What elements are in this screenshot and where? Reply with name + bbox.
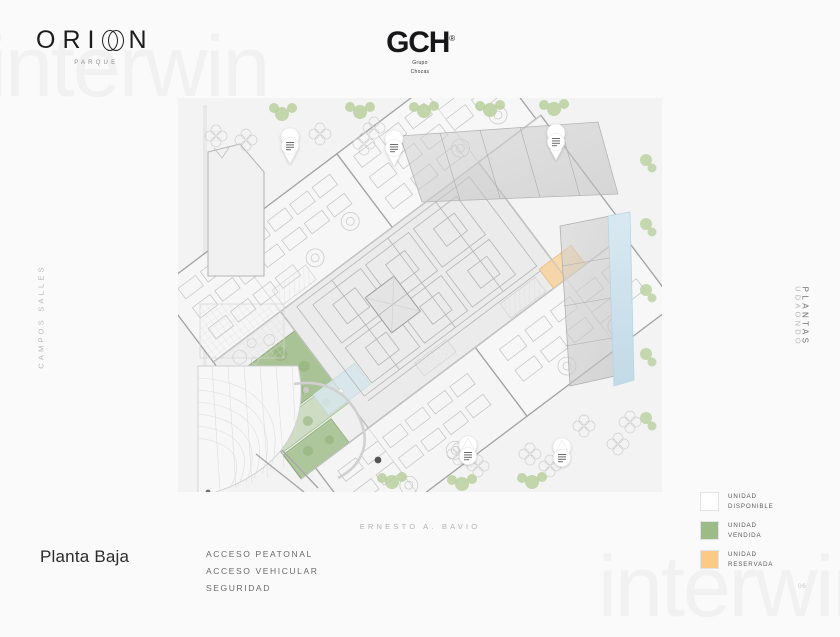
legend-label-reservada: UNIDAD RESERVADA	[728, 550, 773, 569]
page-title: Planta Baja	[40, 547, 129, 567]
orion-name-part2: N	[128, 28, 153, 53]
gch-logo: GCH® Grupo Chozas	[386, 28, 454, 76]
map-pin-marker-4[interactable]	[459, 436, 477, 465]
legend-swatch-vendida	[700, 521, 719, 540]
trademark-symbol: ®	[449, 34, 454, 43]
floor-plan-drawing	[178, 98, 662, 492]
legend-swatch-disponible	[700, 492, 719, 511]
legend-label-disponible: UNIDAD DISPONIBLE	[728, 492, 774, 511]
street-label-left: CAMPOS SALLES	[37, 262, 46, 372]
access-item-peatonal: ACCESO PEATONAL	[206, 549, 319, 559]
roof-canopy-north	[400, 122, 618, 202]
parking-deck-west	[200, 304, 284, 358]
legend-row-vendida: UNIDAD VENDIDA	[700, 521, 774, 540]
access-item-vehicular: ACCESO VEHICULAR	[206, 566, 319, 576]
map-pin-marker-5[interactable]	[553, 438, 571, 467]
access-item-seguridad: SEGURIDAD	[206, 583, 319, 593]
orion-wordmark: ORI N	[36, 28, 154, 53]
double-circle-o-icon	[102, 30, 124, 51]
ramp-bollard	[303, 387, 309, 393]
access-legend-list: ACCESO PEATONAL ACCESO VEHICULAR SEGURID…	[206, 549, 319, 593]
gch-mark-text: GCH	[386, 26, 449, 59]
floor-plan-canvas[interactable]	[178, 98, 662, 492]
orion-subtitle: PARQUE	[74, 60, 118, 66]
gch-wordmark: GCH®	[386, 28, 454, 58]
site-marker-dot	[375, 457, 382, 464]
orion-logo: ORI N PARQUE	[36, 28, 154, 66]
section-label-plantas: PLANTAS	[801, 271, 810, 363]
page-number: 06	[798, 583, 806, 590]
pavilion-west	[208, 144, 264, 276]
legend-label-vendida: UNIDAD VENDIDA	[728, 521, 761, 540]
legend-swatch-reservada	[700, 550, 719, 569]
orion-name-part1: ORI	[36, 28, 101, 53]
gch-subtitle-line1: Grupo	[386, 60, 454, 67]
unit-status-legend: UNIDAD DISPONIBLE UNIDAD VENDIDA UNIDAD …	[700, 492, 774, 569]
header: ORI N PARQUE GCH® Grupo Chozas	[0, 0, 840, 95]
legend-row-reservada: UNIDAD RESERVADA	[700, 550, 774, 569]
legend-row-disponible: UNIDAD DISPONIBLE	[700, 492, 774, 511]
gch-subtitle-line2: Chozas	[386, 69, 454, 76]
